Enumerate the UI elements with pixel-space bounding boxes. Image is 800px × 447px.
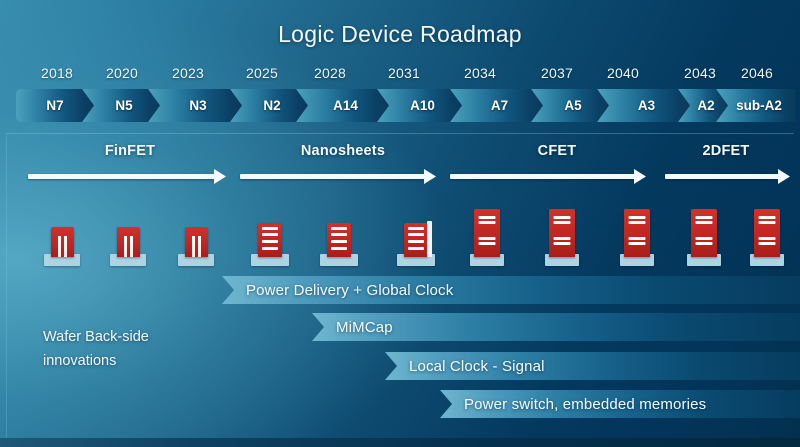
node-chevron-label: N3 xyxy=(189,98,206,113)
device-finfet-n7 xyxy=(44,196,80,266)
nanosheet-layer xyxy=(331,240,347,243)
arrow-shaft xyxy=(240,174,425,179)
era-arrow-2dfet xyxy=(665,168,790,186)
cfet-sheet-layer xyxy=(554,237,571,240)
cfet-sheet-layer xyxy=(696,216,713,219)
feature-banner-label: Local Clock - Signal xyxy=(385,358,545,375)
year-label-2043: 2043 xyxy=(668,65,732,81)
cfet-sheet-layer xyxy=(759,242,776,245)
year-label-2046: 2046 xyxy=(725,65,789,81)
node-chevron-a14[interactable]: A14 xyxy=(296,89,389,122)
node-chevron-sub-a2[interactable]: sub-A2 xyxy=(716,89,796,122)
device-finfet-n3 xyxy=(178,196,214,266)
nanosheet-layer xyxy=(262,227,278,230)
node-chevron-label: N7 xyxy=(46,98,63,113)
bottom-strip xyxy=(0,438,800,447)
feature-banner-1[interactable]: MiMCap xyxy=(312,313,800,341)
device-channel-body xyxy=(117,227,140,257)
cfet-sheet-layer xyxy=(554,221,571,224)
arrow-shaft xyxy=(450,174,635,179)
device-nanosheet-a14 xyxy=(320,196,358,266)
cfet-sheet-layer xyxy=(759,237,776,240)
nanosheet-layer xyxy=(408,247,424,250)
cfet-sheet-layer xyxy=(759,221,776,224)
era-label-cfet: CFET xyxy=(487,143,627,159)
era-arrows-row xyxy=(0,168,800,186)
node-chevron-label: A10 xyxy=(410,98,435,113)
device-channel-body xyxy=(258,223,282,257)
device-channel-body xyxy=(691,209,717,257)
page-title: Logic Device Roadmap xyxy=(0,21,800,48)
cfet-sheet-layer xyxy=(554,242,571,245)
device-channel-body xyxy=(51,227,74,257)
roadmap-infographic: Logic Device Roadmap 2018202020232025202… xyxy=(0,0,800,447)
year-label-2034: 2034 xyxy=(448,65,512,81)
device-cfet-a7 xyxy=(470,196,504,266)
nanosheet-layer xyxy=(331,247,347,250)
feature-banner-label: Power Delivery + Global Clock xyxy=(222,282,453,299)
feature-banner-3[interactable]: Power switch, embedded memories xyxy=(440,390,800,418)
cfet-sheet-layer xyxy=(696,237,713,240)
arrow-shaft xyxy=(665,174,779,179)
era-label-finfet: FinFET xyxy=(60,143,200,159)
device-channel-body xyxy=(474,209,500,257)
year-label-2031: 2031 xyxy=(372,65,436,81)
feature-banner-2[interactable]: Local Clock - Signal xyxy=(385,352,800,380)
wafer-backside-note: Wafer Back-side innovations xyxy=(43,325,233,373)
arrow-head-icon xyxy=(778,169,790,184)
device-illustrations-row xyxy=(0,196,800,266)
cfet-sheet-layer xyxy=(696,242,713,245)
year-label-2018: 2018 xyxy=(25,65,89,81)
node-chevron-a10[interactable]: A10 xyxy=(377,89,462,122)
cfet-sheet-layer xyxy=(759,216,776,219)
finfet-fin xyxy=(192,236,195,257)
year-label-2040: 2040 xyxy=(591,65,655,81)
cfet-sheet-layer xyxy=(696,221,713,224)
node-chevron-label: A2 xyxy=(697,98,714,113)
cfet-sheet-layer xyxy=(629,237,646,240)
finfet-fin xyxy=(58,236,61,257)
nanosheet-layer xyxy=(262,240,278,243)
nanosheet-layer xyxy=(408,233,424,236)
arrow-head-icon xyxy=(424,169,436,184)
cfet-sheet-layer xyxy=(479,221,496,224)
cfet-sheet-layer xyxy=(554,216,571,219)
cfet-sheet-layer xyxy=(629,216,646,219)
node-chevron-label: A14 xyxy=(333,98,358,113)
device-cfet-a3 xyxy=(620,196,654,266)
year-label-2023: 2023 xyxy=(156,65,220,81)
device-channel-body xyxy=(624,209,650,257)
year-labels-row: 2018202020232025202820312034203720402043… xyxy=(0,65,800,83)
device-finfet-n5 xyxy=(110,196,146,266)
arrow-head-icon xyxy=(214,169,226,184)
feature-banner-label: Power switch, embedded memories xyxy=(440,396,706,413)
nanosheet-layer xyxy=(262,247,278,250)
node-chevron-label: N2 xyxy=(263,98,280,113)
nanosheet-layer xyxy=(331,233,347,236)
node-chevron-n3[interactable]: N3 xyxy=(148,89,242,122)
feature-banner-0[interactable]: Power Delivery + Global Clock xyxy=(222,276,800,304)
node-chevron-label: A5 xyxy=(564,98,581,113)
arrow-head-icon xyxy=(634,169,646,184)
device-channel-body xyxy=(549,209,575,257)
cfet-sheet-layer xyxy=(479,237,496,240)
nanosheet-layer xyxy=(262,233,278,236)
device-channel-body xyxy=(327,223,351,257)
finfet-fin xyxy=(124,236,127,257)
nanosheet-layer xyxy=(408,240,424,243)
era-label-nanosheets: Nanosheets xyxy=(273,143,413,159)
wafer-note-line2: innovations xyxy=(43,349,233,373)
device-nanosheet-n2 xyxy=(251,196,289,266)
year-label-2025: 2025 xyxy=(230,65,294,81)
finfet-fin xyxy=(130,236,133,257)
cfet-sheet-layer xyxy=(479,216,496,219)
device-channel-body xyxy=(404,223,428,257)
cfet-sheet-layer xyxy=(479,242,496,245)
node-chevron-a3[interactable]: A3 xyxy=(597,89,690,122)
era-label-2dfet: 2DFET xyxy=(656,143,796,159)
device-cfet-sub-a2 xyxy=(750,196,784,266)
node-chevron-n7[interactable]: N7 xyxy=(16,89,94,122)
nanosheet-layer xyxy=(408,227,424,230)
node-chevron-a7[interactable]: A7 xyxy=(450,89,543,122)
year-label-2037: 2037 xyxy=(525,65,589,81)
era-arrow-nanosheets xyxy=(240,168,436,186)
node-chevron-label: A3 xyxy=(638,98,655,113)
node-chevron-label: sub-A2 xyxy=(736,98,782,113)
finfet-fin xyxy=(198,236,201,257)
year-label-2020: 2020 xyxy=(90,65,154,81)
device-nanosheet-forksheet-a10 xyxy=(397,196,435,266)
node-chevrons-row: N7N5N3N2A14A10A7A5A3A2sub-A2 xyxy=(0,89,800,122)
device-channel-body xyxy=(754,209,780,257)
cfet-sheet-layer xyxy=(629,221,646,224)
node-chevron-label: N5 xyxy=(115,98,132,113)
finfet-fin xyxy=(64,236,67,257)
wafer-note-line1: Wafer Back-side xyxy=(43,325,233,349)
device-channel-body xyxy=(185,227,208,257)
year-label-2028: 2028 xyxy=(298,65,362,81)
cfet-sheet-layer xyxy=(629,242,646,245)
nanosheet-layer xyxy=(331,227,347,230)
era-labels-row: FinFETNanosheetsCFET2DFET xyxy=(0,143,800,163)
node-chevron-label: A7 xyxy=(491,98,508,113)
feature-banner-label: MiMCap xyxy=(312,319,393,336)
era-arrow-cfet xyxy=(450,168,646,186)
forksheet-dielectric-wall xyxy=(427,221,432,257)
device-cfet-a2 xyxy=(687,196,721,266)
device-cfet-a5 xyxy=(545,196,579,266)
arrow-shaft xyxy=(28,174,215,179)
era-arrow-finfet xyxy=(28,168,226,186)
